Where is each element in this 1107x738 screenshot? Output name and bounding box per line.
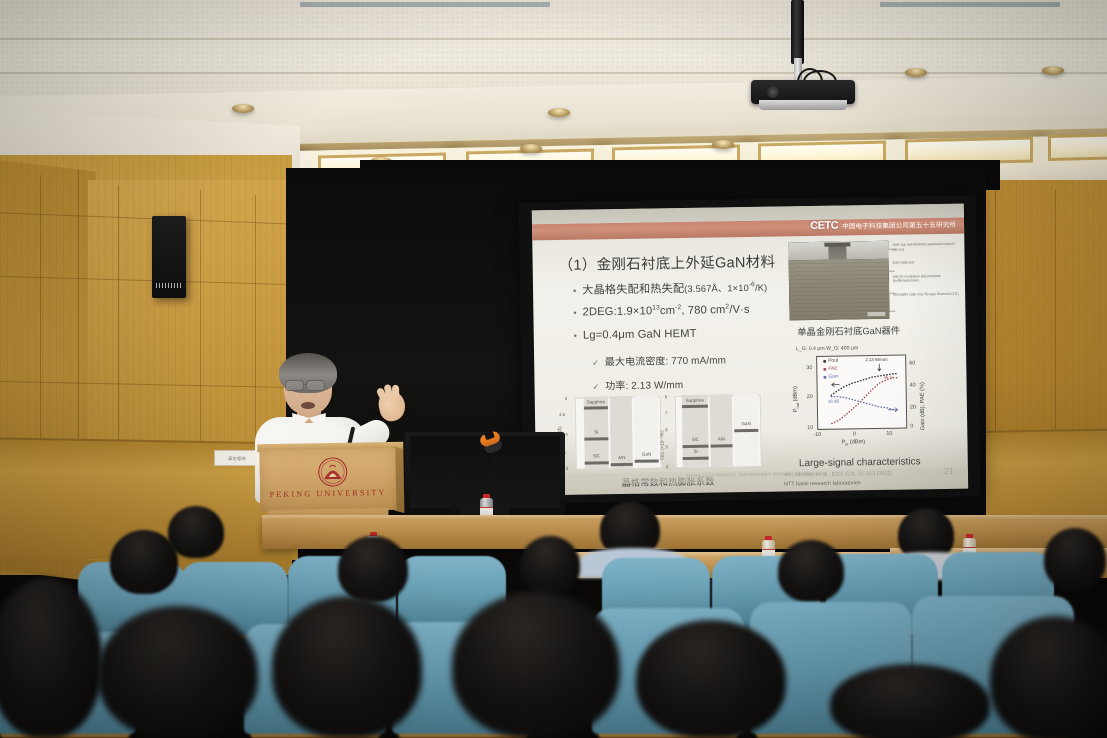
bullet-marker: • — [574, 332, 577, 341]
projection-screen: CETC 中国电子科技集团公司第五十五研究所 （1）金刚石衬底上外延GaN材料 … — [519, 195, 981, 503]
ceiling-vent — [880, 2, 1060, 7]
y-tick: 6 — [665, 427, 668, 432]
slide-bullet-3: • Lg=0.4μm GaN HEMT — [574, 328, 697, 342]
slide-bullet-4: ✓ 最大电流密度: 770 mA/mm — [592, 351, 726, 368]
slide-footer-text: CHINA ELECTRONICS TECHNOLOGY GROUP CORPO… — [686, 471, 827, 478]
ceiling-downlight — [548, 108, 570, 117]
slide-body: （1）金刚石衬底上外延GaN材料 • 大晶格失配和热失配(3.567Å、1×10… — [532, 234, 968, 496]
sem-scale-bar — [867, 312, 885, 316]
projector-mount-pole — [791, 0, 804, 64]
sem-leader-line — [889, 293, 895, 294]
y-tick: 3 — [666, 464, 669, 469]
presentation-slide: CETC 中国电子科技集团公司第五十五研究所 （1）金刚石衬底上外延GaN材料 … — [532, 204, 968, 496]
series-pae — [830, 378, 898, 424]
bar-column — [710, 394, 733, 466]
slide-bullet-2: • 2DEG:1.9×1013cm-2, 780 cm2/V·s — [573, 303, 750, 319]
bar-label: Sapphire — [682, 398, 708, 403]
audience-head-foreground — [452, 592, 620, 738]
annotation-power-density: 2.13 W/mm — [865, 357, 888, 362]
annotation-pae-peak: 46 % — [883, 375, 893, 380]
audience-head-foreground — [636, 620, 786, 738]
large-signal-plot: L_G: 0.4 μm W_G: 400 μm — [786, 344, 928, 456]
wall-panel-seam — [40, 175, 41, 475]
slide-title: （1）金刚石衬底上外延GaN材料 — [558, 251, 775, 275]
bar-label: GaN — [635, 451, 659, 456]
audience-head — [168, 506, 224, 558]
lattice-constant-chart: Sapphire Si SiC AlN GaN — [575, 396, 662, 469]
sem-caption: 单晶金刚石衬底GaN器件 — [784, 322, 914, 338]
eyeglasses-bridge — [304, 384, 307, 385]
ceiling-vent — [300, 2, 550, 7]
presenter-hand — [376, 389, 408, 424]
tec-chart: Sapphire SiC Si AlN GaN — [675, 395, 762, 468]
bar-level — [710, 444, 732, 447]
bar-level — [584, 437, 608, 440]
y-tick: 4.5 — [559, 412, 565, 417]
projector-base — [759, 100, 847, 110]
lectern-front-panel: PEKING UNIVERSITY — [259, 448, 396, 512]
ceiling-seam — [0, 38, 1107, 40]
bullet-text: 大晶格失配和热失配(3.567Å、1×10-6/K) — [582, 279, 767, 298]
ceiling-projector — [745, 0, 865, 110]
y-tick: 10 — [795, 425, 813, 431]
microphone-stand — [470, 430, 516, 526]
bar-level — [611, 463, 633, 466]
bar-label: Si — [683, 449, 709, 454]
lecture-hall-photo: 请勿喧哗 CETC 中国电子科技集团公司第五十五研究所 （1）金刚石衬底上外延G… — [0, 0, 1107, 738]
sem-layer-label: GaN cap and dielectric passivation layer… — [892, 242, 958, 252]
sem-layer-label: AlN (5) nucleation (pit) interface (buff… — [893, 273, 959, 283]
speaker-brand-label — [156, 283, 182, 288]
bar-level — [683, 457, 709, 460]
x-tick: 0 — [849, 431, 859, 437]
check-marker: ✓ — [592, 359, 599, 367]
audience-head-foreground — [98, 606, 258, 738]
bullet-text: Lg=0.4μm GaN HEMT — [583, 328, 697, 342]
ceiling-downlight — [520, 144, 542, 153]
bullet-marker: • — [573, 308, 576, 317]
bar-label: AlN — [611, 455, 633, 460]
eyeglasses-right-lens — [306, 380, 325, 391]
ceiling-downlight — [712, 140, 734, 149]
bar-label: Sapphire — [584, 399, 608, 404]
lectern-institution-text: PEKING UNIVERSITY — [260, 488, 396, 499]
sem-leader-line — [889, 311, 895, 312]
x-tick: 10 — [883, 431, 895, 437]
ceiling-downlight — [232, 104, 254, 113]
bar-level — [682, 405, 708, 408]
peak-marker-icon — [878, 364, 881, 371]
sem-layer-label: GaN (400 nm) — [893, 260, 959, 266]
finger — [392, 385, 399, 399]
bar-level — [734, 429, 758, 432]
sem-gate-structure — [828, 244, 846, 260]
y-axis-title: Pout (dBm) — [793, 386, 801, 412]
left-axis-arrow-icon — [832, 383, 840, 387]
legend-pout: Pout — [823, 359, 838, 364]
legend-gain: Gain — [823, 375, 838, 380]
y-tick: 7 — [665, 410, 668, 415]
y-tick: 5 — [665, 444, 668, 449]
plot-title: L_G: 0.4 μm W_G: 400 μm — [796, 345, 858, 352]
y-tick: 5 — [565, 396, 568, 401]
y-tick: 4 — [565, 432, 568, 437]
presenter-mouth — [301, 402, 315, 409]
wall-panel-seam — [78, 170, 79, 480]
audience-head-foreground — [272, 596, 422, 738]
bar-label: GaN — [734, 421, 758, 426]
x-axis-title: Pin (dBm) — [841, 439, 865, 446]
audience-head — [520, 536, 580, 594]
bullet-text: 2DEG:1.9×1013cm-2, 780 cm2/V·s — [582, 303, 749, 318]
y2-tick: 40 — [910, 382, 916, 388]
citation-line-2: NTT basic research laboratories — [784, 480, 861, 487]
bar-label: Si — [584, 429, 608, 434]
cetc-logo-subtitle: 中国电子科技集团公司第五十五研究所 — [842, 219, 956, 231]
audience-head — [1044, 528, 1106, 590]
eyeglasses-left-lens — [285, 380, 304, 391]
audience-head — [778, 540, 844, 602]
audience-head-foreground — [990, 616, 1107, 738]
legend-pae: PAE — [823, 367, 837, 372]
ceiling-downlight — [1042, 66, 1064, 75]
sem-layer-label: AlN buffer (180 nm) / Ib-type Diamond (1… — [893, 292, 959, 298]
bullet-text: 功率: 2.13 W/mm — [605, 376, 683, 392]
plot-axes-box: Pout PAE Gain 2.13 W/mm 46 % 18 dB — [816, 355, 907, 430]
bar-column — [634, 395, 659, 467]
bar-level — [584, 406, 608, 409]
y-tick: 8 — [665, 394, 668, 399]
projector-lens-icon — [767, 86, 779, 98]
x-tick: -10 — [809, 432, 825, 438]
ceiling-seam — [0, 72, 1107, 74]
y2-tick: 20 — [910, 404, 916, 410]
sem-leader-line — [889, 271, 895, 272]
bar-label: SiC — [682, 437, 708, 442]
cetc-logo: CETC 中国电子科技集团公司第五十五研究所 — [810, 218, 956, 232]
y2-axis-title: Gain (dB), PAE (%) — [920, 382, 927, 430]
bar-level — [635, 459, 659, 462]
y2-tick: 0 — [910, 423, 913, 429]
wall-speaker — [152, 216, 186, 298]
slide-page-number: 21 — [944, 466, 954, 476]
peking-university-seal-icon — [317, 457, 348, 488]
cetc-logo-mark: CETC — [810, 220, 838, 232]
y-axis-title: TEC (×10⁻⁶/K) — [659, 430, 665, 460]
check-marker: ✓ — [593, 383, 600, 391]
sem-label-column: GaN cap and dielectric passivation layer… — [892, 242, 959, 307]
sem-gate-cap — [824, 242, 850, 246]
sem-leader-line — [888, 249, 894, 250]
second-mic-pole — [452, 476, 455, 520]
bar-level — [682, 445, 708, 448]
bullet-marker: • — [573, 287, 576, 296]
annotation-gain: 18 dB — [828, 399, 840, 404]
sem-micrograph — [788, 241, 889, 321]
slide-bullet-5: ✓ 功率: 2.13 W/mm — [592, 376, 683, 392]
audience-head — [110, 530, 178, 594]
bar-label: AlN — [710, 436, 732, 441]
slide-bullet-1: • 大晶格失配和热失配(3.567Å、1×10-6/K) — [573, 279, 768, 298]
ceiling-downlight — [905, 68, 927, 77]
ceiling-light-panel — [1048, 133, 1107, 161]
bar-level — [585, 461, 609, 464]
audience-head — [338, 536, 408, 602]
bullet-text: 最大电流密度: 770 mA/mm — [605, 351, 726, 368]
y-tick: 30 — [794, 365, 812, 371]
audience-head-foreground — [830, 664, 990, 738]
y2-tick: 60 — [909, 360, 915, 366]
bar-label: SiC — [585, 453, 609, 458]
y-tick: 3 — [566, 466, 569, 471]
